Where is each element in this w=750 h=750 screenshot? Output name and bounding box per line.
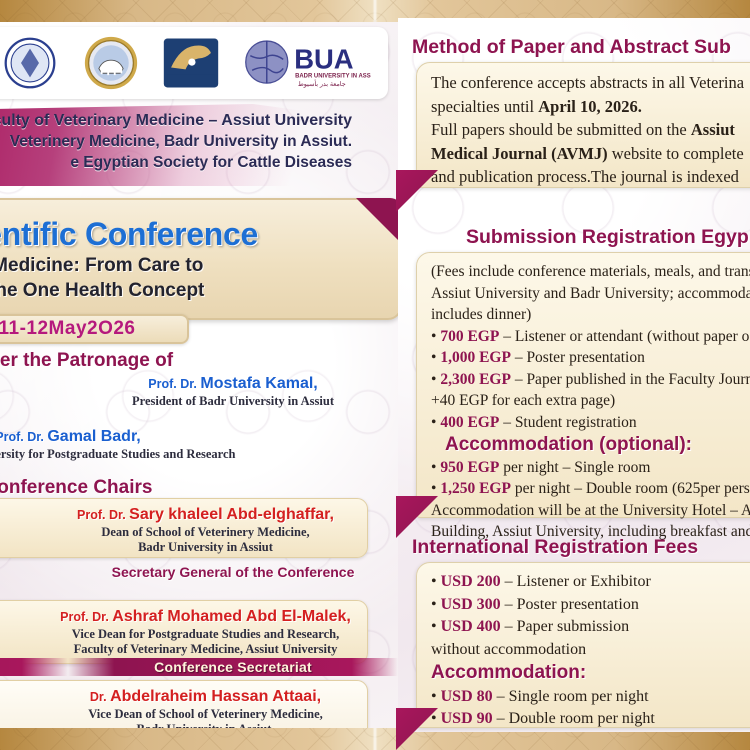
chair-6-title-line-2: Badr University in Assiut. — [54, 722, 357, 728]
intl-accommodation-1-desc: – Single room per night — [493, 688, 649, 705]
chair-person-3: sny Darwish, Assurance Unit, ine, Assiut… — [0, 607, 48, 657]
egypt-accommodation-heading: Accommodation (optional): — [431, 434, 750, 456]
chair-5-title-line-1: oard of the — [0, 707, 42, 722]
egypt-fees-note-line-3: includes dinner) — [431, 304, 750, 326]
subheading-row-1: rdinator Secretary General of the Confer… — [0, 564, 398, 580]
patron-2-name-text: Mostafa Kamal, — [200, 375, 317, 392]
egypt-fees-note-line-2: Assiut University and Badr University; a… — [431, 283, 750, 305]
bua-logo: BUA BADR UNIVERSITY IN ASSIUT جامعة بدر … — [243, 36, 371, 90]
journal-name-part-2: Medical Journal (AVMJ) — [431, 144, 608, 163]
organizer-line-2: Veterinery Medicine, Badr University in … — [0, 131, 386, 152]
chair-1-title-line-2: ssiut University — [0, 540, 42, 555]
conference-poster: BUA BADR UNIVERSITY IN ASSIUT جامعة بدر … — [0, 0, 750, 750]
submission-deadline: April 10, 2026. — [538, 97, 642, 116]
conference-subtitle-line-2: re within the One Health Concept — [0, 278, 204, 303]
plaque-corner-accent — [356, 198, 398, 244]
egypt-fee-3-desc: – Paper published in the Faculty Journa — [511, 371, 750, 388]
conference-title-suffix: Scientific Conference — [0, 216, 258, 252]
chair-3-title-line-1: Assurance Unit, — [0, 627, 42, 642]
submission-line-1: The conference accepts abstracts in all … — [431, 71, 750, 95]
coordinator-subheading: rdinator — [0, 564, 68, 580]
submission-line-2a: specialties until — [431, 97, 538, 116]
submission-heading: Method of Paper and Abstract Sub — [412, 36, 750, 59]
patron-3-name: Prof. Dr. Gamal Badr, — [0, 427, 398, 447]
patron-2-title: President of Badr University in Assiut — [74, 394, 392, 409]
egypt-fee-2-desc: – Poster presentation — [511, 349, 645, 366]
patron-2-prefix: Prof. Dr. — [148, 377, 200, 391]
patron-3-prefix: Prof. Dr. — [0, 430, 47, 444]
svg-text:جامعة بدر بأسيوط: جامعة بدر بأسيوط — [298, 79, 346, 88]
egypt-fee-item-1: 700 EGP – Listener or attendant (without… — [431, 326, 750, 348]
egypt-fees-box: (Fees include conference materials, meal… — [416, 252, 750, 518]
egypt-accommodation-2-amount: 1,250 EGP — [440, 480, 511, 497]
chair-person-5: as Mohamed, oard of the Cattle Diseases — [0, 687, 48, 728]
submission-line-5: and publication process.The journal is i… — [431, 165, 750, 189]
svg-text:BUA: BUA — [294, 43, 354, 74]
right-panel: Method of Paper and Abstract Sub The con… — [404, 18, 750, 732]
patron-1-title: ssiut University — [0, 394, 62, 409]
intl-accommodation-heading: Accommodation: — [431, 662, 750, 685]
chair-4-prefix: Prof. Dr. — [60, 610, 112, 624]
intl-fee-3-desc: – Paper submission — [501, 618, 629, 635]
chair-2-name-text: Sary khaleel Abd-elghaffar, — [129, 506, 334, 523]
chair-1-name: Abd El-Hafez, — [0, 505, 42, 525]
submission-line-3a: Full papers should be submitted on the — [431, 120, 691, 139]
patron-person-2: Prof. Dr. Mostafa Kamal, President of Ba… — [68, 374, 398, 409]
egypt-accommodation-item-1: 950 EGP per night – Single room — [431, 457, 750, 479]
organizer-line-3: e Egyptian Society for Cattle Diseases — [0, 152, 386, 173]
egypt-fee-3-amount: 2,300 EGP — [440, 371, 511, 388]
submission-line-4: Medical Journal (AVMJ) website to comple… — [431, 142, 750, 166]
chair-person-6: Dr. Abdelraheim Hassan Attaai, Vice Dean… — [48, 687, 363, 728]
chairs-box-3: as Mohamed, oard of the Cattle Diseases … — [0, 680, 368, 728]
committee-subheading: Committee — [0, 658, 68, 676]
conference-secretariat-subheading: Conference Secretariat — [68, 658, 398, 676]
intl-fee-item-3: USD 400 – Paper submission — [431, 616, 750, 639]
conference-date-badge: 11-12May2O26 — [0, 314, 189, 344]
chair-6-title-line-1: Vice Dean of School of Veterinery Medici… — [54, 707, 357, 722]
intl-fees-box: USD 200 – Listener or Exhibitor USD 300 … — [416, 562, 750, 728]
chairs-heading: Conference Chairs — [0, 477, 398, 499]
intl-accommodation-item-1: USD 80 – Single room per night — [431, 686, 750, 709]
patronage-heading: Under the Patronage of — [0, 350, 398, 372]
intl-fees-note: without accommodation — [431, 639, 750, 662]
egypt-fee-4-desc: – Student registration — [499, 414, 636, 431]
chair-4-name: Prof. Dr. Ashraf Mohamed Abd El-Malek, — [54, 607, 357, 627]
patronage-row: El-Minshawy, ssiut University Prof. Dr. … — [0, 374, 398, 409]
organizer-lines: Faculty of Veterinary Medicine – Assiut … — [0, 110, 398, 173]
egyptian-society-cattle-diseases-logo — [82, 34, 140, 92]
intl-fee-1-desc: – Listener or Exhibitor — [501, 573, 651, 590]
egypt-fee-item-4: 400 EGP – Student registration — [431, 412, 750, 434]
chair-3-name: sny Darwish, — [0, 607, 42, 627]
patron-2-name: Prof. Dr. Mostafa Kamal, — [74, 374, 392, 394]
egypt-fees-heading: Submission Registration Egyp — [466, 226, 750, 249]
intl-fees-heading: International Registration Fees — [412, 536, 750, 559]
chair-2-title-line-2: Badr University in Assiut — [54, 540, 357, 555]
intl-fee-2-amount: USD 300 — [441, 596, 501, 613]
egypt-fee-1-desc: – Listener or attendant (without paper o — [499, 328, 749, 345]
svg-text:BADR UNIVERSITY IN ASSIUT: BADR UNIVERSITY IN ASSIUT — [295, 74, 371, 80]
conference-title-plaque: e 20th Scientific Conference eterinary M… — [0, 198, 398, 320]
egypt-accommodation-item-2: 1,250 EGP per night – Double room (625pe… — [431, 478, 750, 500]
chair-person-2: Prof. Dr. Sary khaleel Abd-elghaffar, De… — [48, 505, 363, 551]
chair-4-title-line-2: Faculty of Veterinary Medicine, Assiut U… — [54, 642, 357, 657]
intl-accommodation-2-desc: – Double room per night — [493, 710, 655, 727]
journal-name-part-1: Assiut — [691, 120, 735, 139]
egypt-accommodation-2-desc: per night – Double room (625per pers — [511, 480, 750, 497]
conference-title: e 20th Scientific Conference — [0, 216, 258, 253]
patron-3-name-text: Gamal Badr, — [47, 428, 140, 445]
patron-person-3: Prof. Dr. Gamal Badr, ent of Assiut Univ… — [0, 427, 398, 462]
intl-accommodation-1-amount: USD 80 — [441, 688, 493, 705]
chair-2-prefix: Prof. Dr. — [77, 508, 129, 522]
chair-6-name: Dr. Abdelraheim Hassan Attaai, — [54, 687, 357, 707]
secretary-general-subheading: Secretary General of the Conference — [68, 564, 398, 580]
egypt-accommodation-note-line-1: Accommodation will be at the University … — [431, 500, 750, 522]
intl-fee-1-amount: USD 200 — [441, 573, 501, 590]
intl-fee-item-2: USD 300 – Poster presentation — [431, 594, 750, 617]
badr-faculty-veterinary-medicine-logo — [162, 34, 220, 92]
egypt-fee-1-amount: 700 EGP — [440, 328, 499, 345]
chair-6-name-text: Abdelraheim Hassan Attaai, — [110, 688, 321, 705]
left-panel: BUA BADR UNIVERSITY IN ASSIUT جامعة بدر … — [0, 22, 398, 728]
chair-4-title-line-1: Vice Dean for Postgraduate Studies and R… — [54, 627, 357, 642]
chair-4-name-text: Ashraf Mohamed Abd El-Malek, — [112, 608, 351, 625]
egypt-accommodation-1-desc: per night – Single room — [499, 459, 650, 476]
chair-person-1: Abd El-Hafez, lty of ssiut University — [0, 505, 48, 551]
chair-person-4: Prof. Dr. Ashraf Mohamed Abd El-Malek, V… — [48, 607, 363, 657]
chair-5-name: as Mohamed, — [0, 687, 42, 707]
chair-5-title-line-2: Cattle Diseases — [0, 722, 42, 728]
chair-3-title-line-2: ine, Assiut University — [0, 642, 42, 657]
egypt-accommodation-1-amount: 950 EGP — [440, 459, 499, 476]
chair-2-name: Prof. Dr. Sary khaleel Abd-elghaffar, — [54, 505, 357, 525]
intl-fee-item-1: USD 200 – Listener or Exhibitor — [431, 571, 750, 594]
intl-accommodation-2-amount: USD 90 — [441, 710, 493, 727]
patron-1-name: El-Minshawy, — [0, 374, 62, 394]
chairs-box-2: sny Darwish, Assurance Unit, ine, Assiut… — [0, 600, 368, 664]
egypt-extra-page-note: +40 EGP for each extra page) — [431, 390, 750, 412]
egypt-fee-2-amount: 1,000 EGP — [440, 349, 511, 366]
chair-2-title-line-1: Dean of School of Veterinery Medicine, — [54, 525, 357, 540]
subheading-row-2: Committee Conference Secretariat — [0, 658, 398, 676]
patron-3-title: ent of Assiut University for Postgraduat… — [0, 447, 398, 462]
egypt-fee-4-amount: 400 EGP — [440, 414, 499, 431]
chair-1-title-line-1: lty of — [0, 525, 42, 540]
chair-6-prefix: Dr. — [90, 690, 110, 704]
patron-person-1: El-Minshawy, ssiut University — [0, 374, 68, 409]
chairs-box-1: Abd El-Hafez, lty of ssiut University Pr… — [0, 498, 368, 558]
organizer-line-1: Faculty of Veterinary Medicine – Assiut … — [0, 110, 386, 131]
egypt-fees-note-line-1: (Fees include conference materials, meal… — [431, 261, 750, 283]
egypt-fee-item-2: 1,000 EGP – Poster presentation — [431, 347, 750, 369]
submission-line-3: Full papers should be submitted on the A… — [431, 118, 750, 142]
assiut-university-logo — [1, 34, 59, 92]
conference-subtitle-line-1: eterinary Medicine: From Care to — [0, 253, 203, 278]
submission-line-2: specialties until April 10, 2026. — [431, 95, 750, 119]
intl-fee-2-desc: – Poster presentation — [501, 596, 639, 613]
intl-fee-3-amount: USD 400 — [441, 618, 501, 635]
submission-line-4b: website to complete — [608, 144, 744, 163]
logo-strip: BUA BADR UNIVERSITY IN ASSIUT جامعة بدر … — [0, 27, 388, 99]
intl-accommodation-item-2: USD 90 – Double room per night — [431, 708, 750, 731]
egypt-fee-item-3: 2,300 EGP – Paper published in the Facul… — [431, 369, 750, 391]
submission-box: The conference accepts abstracts in all … — [416, 62, 750, 188]
